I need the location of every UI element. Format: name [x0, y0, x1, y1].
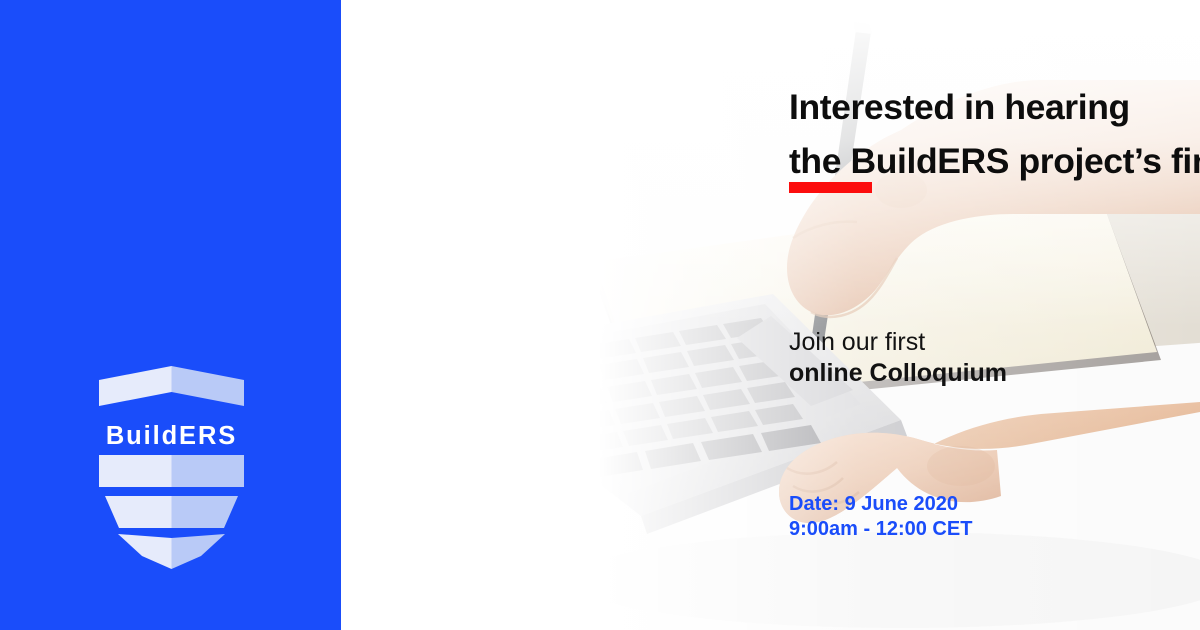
- accent-rule: [789, 182, 872, 193]
- event-date: Date: 9 June 2020: [789, 492, 972, 517]
- logo-band-1: [99, 366, 244, 406]
- logo-band-2: [99, 455, 244, 487]
- promo-banner: BuildERS: [0, 0, 1200, 630]
- logo-band-4: [118, 534, 225, 569]
- headline-line-2: the BuildERS project’s findings?: [789, 134, 1200, 188]
- brand-panel: BuildERS: [0, 0, 341, 630]
- logo-band-3: [105, 496, 238, 528]
- event-details: Date: 9 June 2020 9:00am - 12:00 CET: [789, 492, 972, 542]
- subheading: Join our first online Colloquium: [789, 327, 1007, 389]
- subheading-line-2: online Colloquium: [789, 358, 1007, 389]
- builders-shield-logo: BuildERS: [99, 366, 244, 569]
- content-area: Interested in hearing the BuildERS proje…: [341, 0, 1200, 630]
- headline-line-1: Interested in hearing: [789, 80, 1200, 134]
- event-time: 9:00am - 12:00 CET: [789, 517, 972, 542]
- page-title: Interested in hearing the BuildERS proje…: [789, 80, 1200, 188]
- logo-wordmark: BuildERS: [99, 424, 244, 450]
- subheading-line-1: Join our first: [789, 327, 1007, 358]
